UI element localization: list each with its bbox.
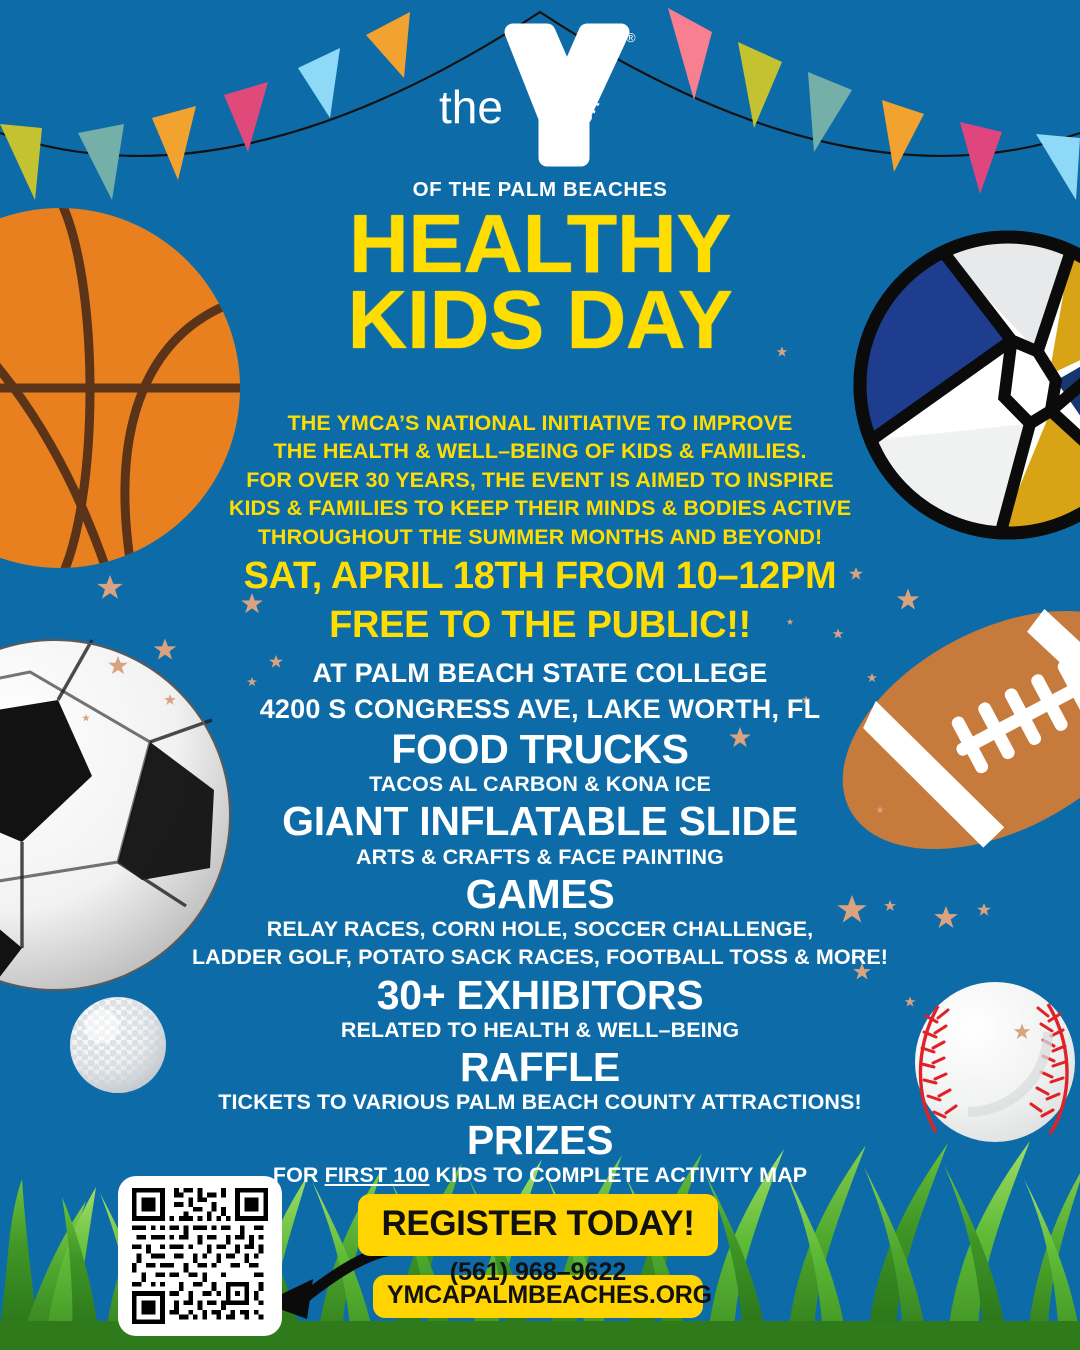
activity-detail: TICKETS TO VARIOUS PALM BEACH COUNTY ATT… xyxy=(0,1089,1080,1117)
register-button[interactable]: REGISTER TODAY! xyxy=(358,1194,718,1256)
activity-detail: LADDER GOLF, POTATO SACK RACES, FOOTBALL… xyxy=(0,944,1080,972)
intro-line: KIDS & FAMILIES TO KEEP THEIR MINDS & BO… xyxy=(0,494,1080,522)
page-title: HEALTHY KIDS DAY xyxy=(0,206,1080,359)
logo-the-text: the xyxy=(439,81,503,133)
poster-root: the YMCA ® OF THE PALM BEACHES HEALTHY K… xyxy=(0,0,1080,1350)
headline-line-2: KIDS DAY xyxy=(0,282,1080,358)
activities-list: FOOD TRUCKS TACOS AL CARBON & KONA ICE G… xyxy=(0,727,1080,1190)
ymca-logo: the YMCA ® xyxy=(0,18,1080,168)
qr-code-image xyxy=(130,1188,270,1324)
activity-detail: RELATED TO HEALTH & WELL–BEING xyxy=(0,1017,1080,1045)
intro-paragraph: THE YMCA’S NATIONAL INITIATIVE TO IMPROV… xyxy=(0,409,1080,551)
ymca-logo-mark: the YMCA ® xyxy=(425,18,655,168)
intro-line: THROUGHOUT THE SUMMER MONTHS AND BEYOND! xyxy=(0,523,1080,551)
activity-title: RAFFLE xyxy=(0,1045,1080,1089)
poster-content: the YMCA ® OF THE PALM BEACHES HEALTHY K… xyxy=(0,0,1080,1350)
cta-group: REGISTER TODAY! (561) 968–9622 YMCAPALMB… xyxy=(358,1194,718,1318)
activity-detail: RELAY RACES, CORN HOLE, SOCCER CHALLENGE… xyxy=(0,916,1080,944)
activity-title: 30+ EXHIBITORS xyxy=(0,973,1080,1017)
website-button[interactable]: YMCAPALMBEACHES.ORG xyxy=(373,1275,703,1318)
activity-title: GAMES xyxy=(0,872,1080,916)
activity-title: FOOD TRUCKS xyxy=(0,727,1080,771)
venue-address: 4200 S CONGRESS AVE, LAKE WORTH, FL xyxy=(0,691,1080,727)
activity-detail: TACOS AL CARBON & KONA ICE xyxy=(0,771,1080,799)
activity-detail: ARTS & CRAFTS & FACE PAINTING xyxy=(0,844,1080,872)
registered-mark: ® xyxy=(626,30,636,45)
event-date-line: SAT, APRIL 18TH FROM 10–12PM xyxy=(0,552,1080,601)
qr-code[interactable] xyxy=(118,1176,282,1336)
event-datetime: SAT, APRIL 18TH FROM 10–12PM FREE TO THE… xyxy=(0,552,1080,651)
intro-line: THE HEALTH & WELL–BEING OF KIDS & FAMILI… xyxy=(0,437,1080,465)
activity-title: GIANT INFLATABLE SLIDE xyxy=(0,799,1080,843)
venue-name: AT PALM BEACH STATE COLLEGE xyxy=(0,655,1080,691)
intro-line: FOR OVER 30 YEARS, THE EVENT IS AIMED TO… xyxy=(0,466,1080,494)
intro-line: THE YMCA’S NATIONAL INITIATIVE TO IMPROV… xyxy=(0,409,1080,437)
event-location: AT PALM BEACH STATE COLLEGE 4200 S CONGR… xyxy=(0,655,1080,728)
event-price-line: FREE TO THE PUBLIC!! xyxy=(0,601,1080,650)
headline-line-1: HEALTHY xyxy=(0,206,1080,282)
activity-title: PRIZES xyxy=(0,1118,1080,1162)
